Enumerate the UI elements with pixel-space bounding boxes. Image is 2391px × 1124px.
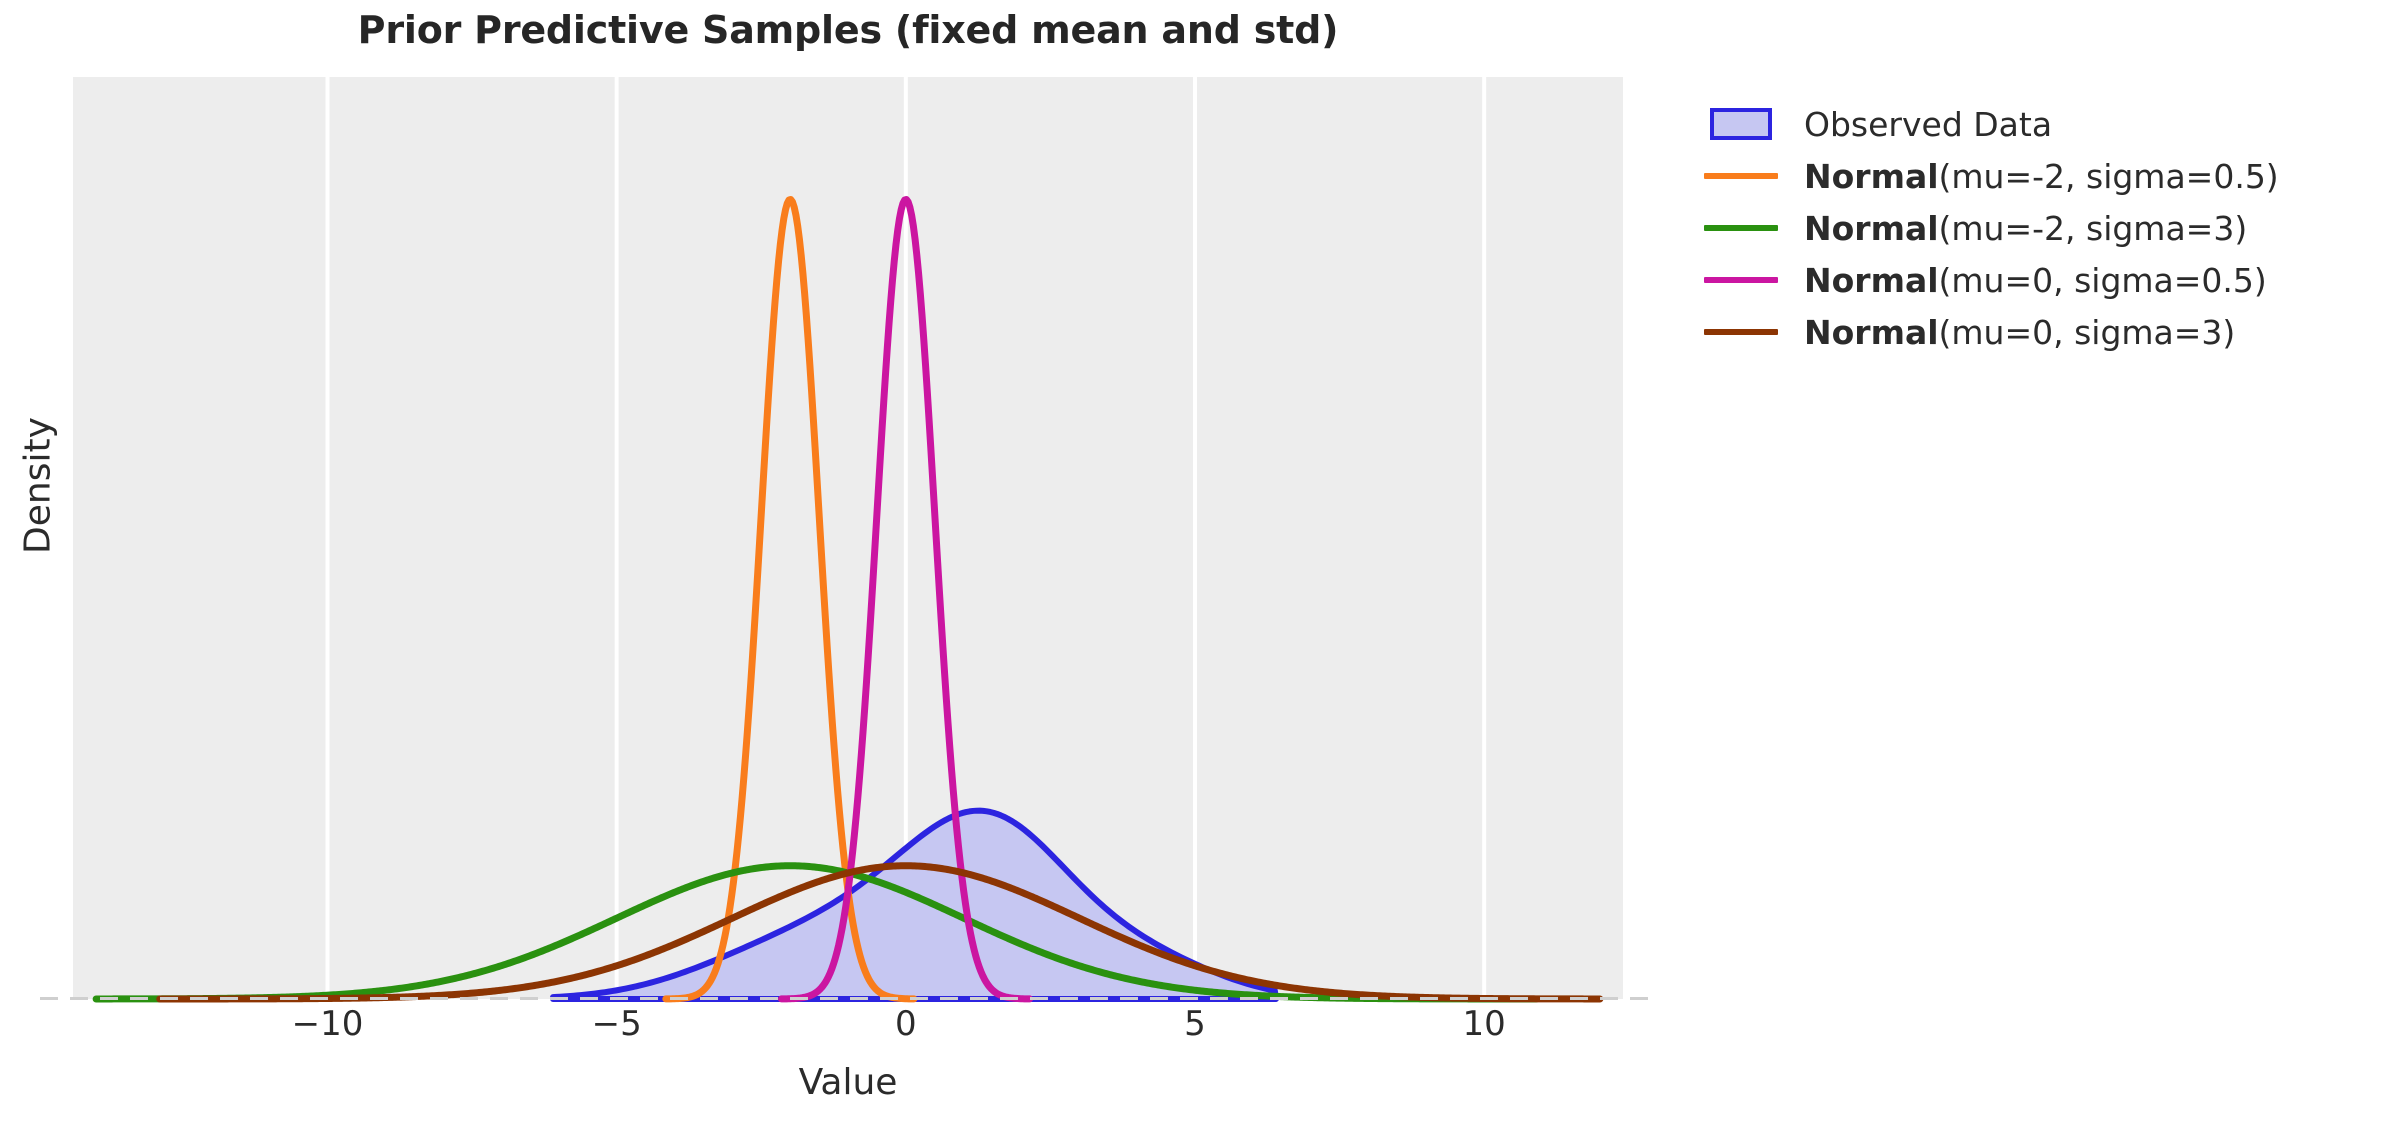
legend-line-icon (1700, 260, 1782, 300)
legend-line-icon (1700, 208, 1782, 248)
legend-label-4: Normal(mu=0, sigma=3) (1804, 316, 2235, 349)
x-axis-title: Value (73, 1062, 1623, 1103)
legend-item-1[interactable]: Normal(mu=-2, sigma=0.5) (1700, 152, 2360, 200)
legend-item-0[interactable]: Observed Data (1700, 100, 2360, 148)
legend-patch-shape (1710, 108, 1772, 140)
legend-label-bold-1: Normal (1804, 157, 1939, 196)
legend-item-4[interactable]: Normal(mu=0, sigma=3) (1700, 308, 2360, 356)
x-tick-label-3: 5 (1135, 1004, 1255, 1044)
legend-item-2[interactable]: Normal(mu=-2, sigma=3) (1700, 204, 2360, 252)
curves-group (96, 200, 1600, 999)
legend-label-1: Normal(mu=-2, sigma=0.5) (1804, 160, 2279, 193)
legend-line-shape (1704, 329, 1778, 335)
chart-title: Prior Predictive Samples (fixed mean and… (73, 8, 1623, 52)
figure-canvas: Prior Predictive Samples (fixed mean and… (0, 0, 2391, 1124)
legend-line-shape (1704, 277, 1778, 283)
plot-svg (73, 77, 1623, 999)
legend-label-bold-4: Normal (1804, 313, 1939, 352)
x-tick-label-4: 10 (1424, 1004, 1544, 1044)
legend-item-3[interactable]: Normal(mu=0, sigma=0.5) (1700, 256, 2360, 304)
legend-label-bold-3: Normal (1804, 261, 1939, 300)
legend-line-icon (1700, 156, 1782, 196)
x-tick-label-0: −10 (267, 1004, 387, 1044)
y-axis-title: Density (18, 386, 59, 586)
legend-label-2: Normal(mu=-2, sigma=3) (1804, 212, 2247, 245)
legend: Observed DataNormal(mu=-2, sigma=0.5)Nor… (1700, 100, 2360, 360)
legend-label-0: Observed Data (1804, 108, 2052, 141)
x-tick-label-1: −5 (557, 1004, 677, 1044)
legend-label-3: Normal(mu=0, sigma=0.5) (1804, 264, 2267, 297)
legend-label-bold-2: Normal (1804, 209, 1939, 248)
legend-line-shape (1704, 173, 1778, 179)
plot-area (73, 77, 1623, 999)
legend-swatch-icon (1700, 104, 1782, 144)
x-tick-label-2: 0 (846, 1004, 966, 1044)
legend-line-icon (1700, 312, 1782, 352)
legend-line-shape (1704, 225, 1778, 231)
x-axis-baseline (40, 997, 1660, 1000)
